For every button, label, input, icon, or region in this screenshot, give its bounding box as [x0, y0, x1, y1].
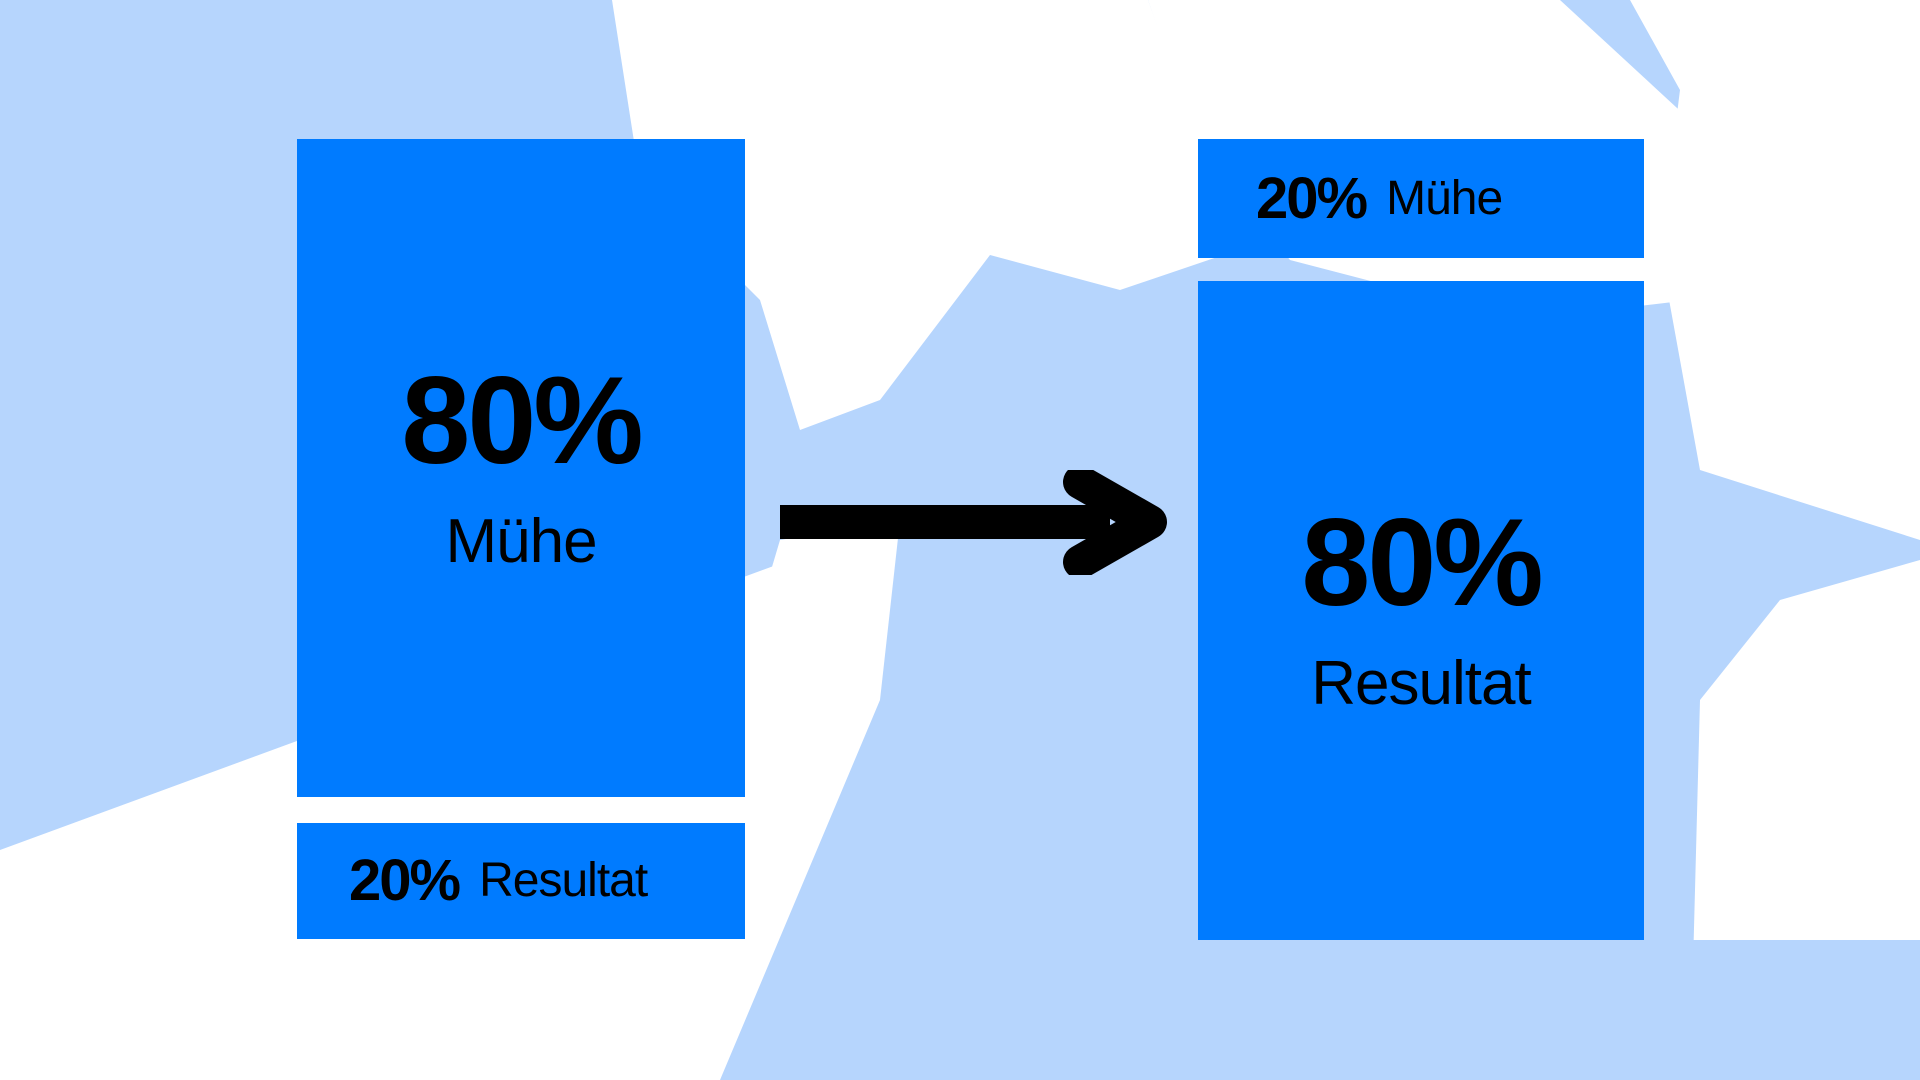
bar-left-result-label: Resultat [479, 857, 647, 905]
bar-right-result-label: Resultat [1311, 651, 1530, 716]
bar-right-effort-label: Mühe [1386, 175, 1502, 223]
bar-right-effort-20: 20% Mühe [1198, 139, 1644, 258]
bar-right-result-80: 80% Resultat [1198, 281, 1644, 940]
arrow-right-icon [780, 470, 1180, 575]
bar-left-effort-percent: 80% [401, 362, 640, 481]
bar-left-result-20: 20% Resultat [297, 823, 745, 939]
arrow-shaft [780, 505, 1110, 539]
bar-left-effort-label: Mühe [445, 509, 596, 574]
bar-right-effort-percent: 20% [1256, 170, 1366, 228]
infographic-canvas: 80% Mühe 20% Resultat 20% Mühe 80% Resul… [0, 0, 1920, 1080]
background-field-bottom-right [1644, 940, 1920, 1080]
bar-left-effort-80: 80% Mühe [297, 139, 745, 797]
bar-right-result-percent: 80% [1301, 504, 1540, 623]
bar-left-result-percent: 20% [349, 852, 459, 910]
